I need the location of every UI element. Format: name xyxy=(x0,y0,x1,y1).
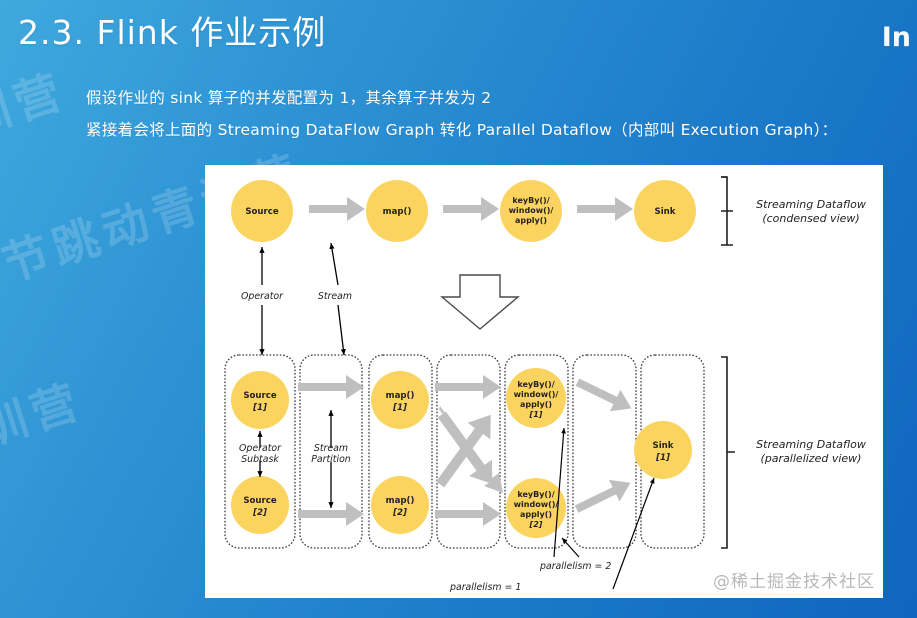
parallelism-1-label: parallelism = 1 xyxy=(449,582,521,593)
node-label: Source xyxy=(243,391,277,401)
parallelized-bracket xyxy=(721,357,735,548)
stream-label: Stream xyxy=(318,291,352,302)
parallel-node-sink-1: Sink [1] xyxy=(634,421,692,479)
node-label: Sink xyxy=(655,207,676,217)
node-label: apply() xyxy=(520,510,552,519)
operator-subtask-label-line-1: Operator xyxy=(239,443,282,454)
condensed-caption-line-2: (condensed view) xyxy=(762,212,859,225)
node-label: Source xyxy=(243,496,277,506)
condensed-caption-line-1: Streaming Dataflow xyxy=(756,198,866,211)
node-index: [1] xyxy=(252,403,267,413)
body-text-line-2: 紧接着会将上面的 Streaming DataFlow Graph 转化 Par… xyxy=(86,118,837,140)
parallel-node-map-2: map() [2] xyxy=(371,476,429,534)
parallel-node-map-1: map() [1] xyxy=(371,371,429,429)
condensed-bracket xyxy=(721,177,733,245)
parallel-node-source-1: Source [1] xyxy=(231,371,289,429)
bottom-watermark: @稀土掘金技术社区 xyxy=(713,567,875,592)
parallelized-caption-line-1: Streaming Dataflow xyxy=(756,438,866,451)
dataflow-diagram: Source map() keyBy()/ window()/ apply() … xyxy=(205,165,883,598)
slide-canvas: 字节跳动青训营 字节跳动青训营 字节跳动青训营 字节跳动青训营 2.3. Fli… xyxy=(0,0,917,618)
parallel-node-keyby-2: keyBy()/ window()/ apply() [2] xyxy=(506,478,566,538)
stream-partition-label-line-1: Stream xyxy=(314,443,348,454)
node-index: [2] xyxy=(529,520,543,529)
node-label: apply() xyxy=(515,216,547,225)
corner-logo-mark: In xyxy=(882,22,911,53)
condensed-stream-arrows xyxy=(309,197,633,221)
parallel-node-source-2: Source [2] xyxy=(231,476,289,534)
node-label: apply() xyxy=(520,400,552,409)
condensed-node-sink: Sink xyxy=(634,180,696,242)
stream-partition-label-line-2: Partition xyxy=(311,454,351,465)
node-index: [2] xyxy=(252,508,267,518)
condensed-node-keyby: keyBy()/ window()/ apply() xyxy=(500,180,562,242)
node-label: window()/ xyxy=(509,206,554,215)
node-label: keyBy()/ xyxy=(512,196,549,205)
operator-subtask-label-line-2: Subtask xyxy=(241,454,279,465)
node-label: map() xyxy=(383,207,412,217)
node-label: keyBy()/ xyxy=(517,380,554,389)
condensed-node-source: Source xyxy=(231,180,293,242)
node-label: Sink xyxy=(653,441,674,451)
node-label: keyBy()/ xyxy=(517,490,554,499)
node-index: [1] xyxy=(392,403,407,413)
body-text-line-1: 假设作业的 sink 算子的并发配置为 1，其余算子并发为 2 xyxy=(86,86,491,108)
parallel-sink-arrows xyxy=(571,371,636,520)
transition-down-arrow xyxy=(442,275,518,329)
node-label: map() xyxy=(386,496,415,506)
page-title: 2.3. Flink 作业示例 xyxy=(18,6,326,54)
figure-panel: Source map() keyBy()/ window()/ apply() … xyxy=(205,165,883,598)
parallel-node-keyby-1: keyBy()/ window()/ apply() [1] xyxy=(506,368,566,428)
parallelism-2-label: parallelism = 2 xyxy=(539,561,611,572)
operator-label: Operator xyxy=(241,291,284,302)
node-index: [1] xyxy=(655,453,670,463)
parallelized-caption-line-2: (parallelized view) xyxy=(761,452,862,465)
node-label: Source xyxy=(245,207,279,217)
node-label: window()/ xyxy=(514,500,559,509)
node-label: map() xyxy=(386,391,415,401)
node-label: window()/ xyxy=(514,390,559,399)
node-index: [2] xyxy=(392,508,407,518)
node-index: [1] xyxy=(529,410,543,419)
condensed-node-map: map() xyxy=(366,180,428,242)
